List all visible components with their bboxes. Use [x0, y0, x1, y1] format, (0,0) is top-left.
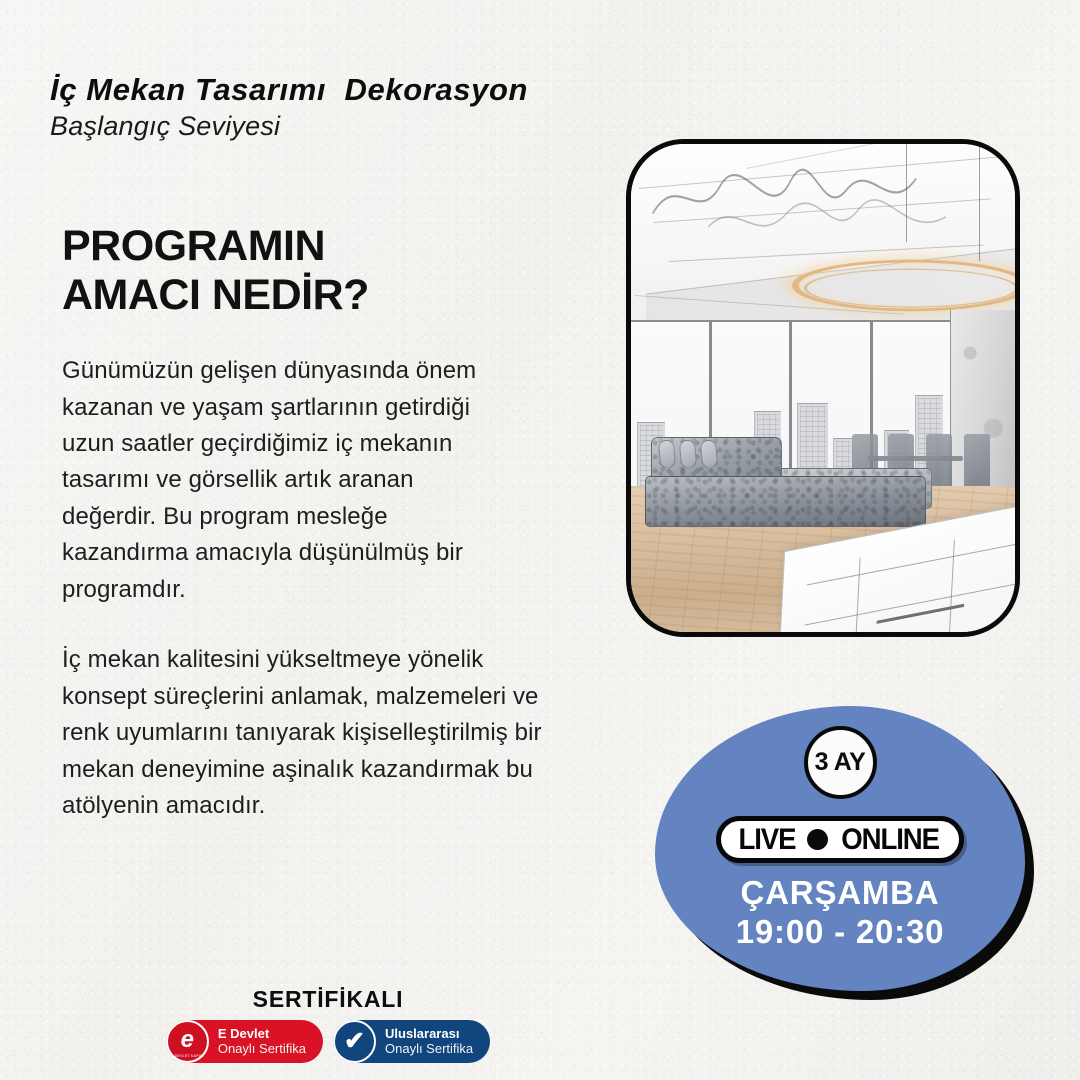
sofa-seat	[645, 476, 927, 527]
paragraph-purpose: Günümüzün gelişen dünyasında önem kazana…	[62, 353, 492, 608]
interior-render-image	[626, 139, 1020, 637]
pendant-rod	[979, 144, 980, 261]
certificate-line1: Uluslararası	[385, 1027, 473, 1042]
online-label: ONLINE	[842, 823, 940, 857]
check-icon: ✔	[333, 1020, 376, 1063]
sofa-cushion	[658, 440, 676, 469]
schedule-day: ÇARŞAMBA	[741, 874, 940, 912]
render-stage	[631, 144, 1015, 632]
e-devlet-letter: e	[181, 1028, 194, 1052]
brand-header: İç Mekan Tasarımı Dekorasyon Başlangıç S…	[50, 74, 528, 142]
certificate-row: e e-DEVLET KAPISI E Devlet Onaylı Sertif…	[166, 1020, 490, 1063]
e-devlet-caption: e-DEVLET KAPISI	[168, 1054, 207, 1058]
certificate-line1: E Devlet	[218, 1027, 306, 1042]
brand-subtitle: Başlangıç Seviyesi	[50, 112, 528, 142]
live-online-pill: LIVE ONLINE	[716, 816, 963, 863]
e-devlet-logo-icon: e e-DEVLET KAPISI	[166, 1020, 209, 1063]
ring-light-inner	[804, 268, 1018, 307]
sofa-cushion	[700, 440, 718, 469]
brand-title: İç Mekan Tasarımı Dekorasyon	[50, 74, 528, 105]
paragraph-goals: İç mekan kalitesini yükseltmeye yönelik …	[62, 642, 562, 824]
content-column: PROGRAMIN AMACI NEDİR? Günümüzün gelişen…	[62, 222, 582, 825]
certificate-title: SERTİFİKALI	[253, 986, 404, 1013]
sectional-sofa	[639, 437, 939, 535]
live-dot-icon	[807, 829, 828, 850]
certificate-line2: Onaylı Sertifika	[218, 1042, 306, 1057]
pendant-rod	[906, 144, 907, 242]
live-label: LIVE	[739, 823, 796, 857]
sofa-cushion	[679, 440, 697, 469]
certificate-text: Uluslararası Onaylı Sertifika	[385, 1027, 473, 1056]
blob-content: 3 AY LIVE ONLINE ÇARŞAMBA 19:00 - 20:30	[655, 706, 1025, 991]
page-title: PROGRAMIN AMACI NEDİR?	[62, 222, 582, 320]
certificate-line2: Onaylı Sertifika	[385, 1042, 473, 1057]
check-glyph: ✔	[344, 1029, 365, 1054]
certificate-badge-edevlet[interactable]: e e-DEVLET KAPISI E Devlet Onaylı Sertif…	[166, 1020, 323, 1063]
schedule-badge: 3 AY LIVE ONLINE ÇARŞAMBA 19:00 - 20:30	[655, 706, 1025, 991]
certificate-section: SERTİFİKALI e e-DEVLET KAPISI E Devlet O…	[0, 986, 868, 1063]
certificate-badge-international[interactable]: ✔ Uluslararası Onaylı Sertifika	[333, 1020, 490, 1063]
schedule-time: 19:00 - 20:30	[736, 913, 945, 951]
certificate-text: E Devlet Onaylı Sertifika	[218, 1027, 306, 1056]
duration-badge: 3 AY	[804, 726, 877, 799]
